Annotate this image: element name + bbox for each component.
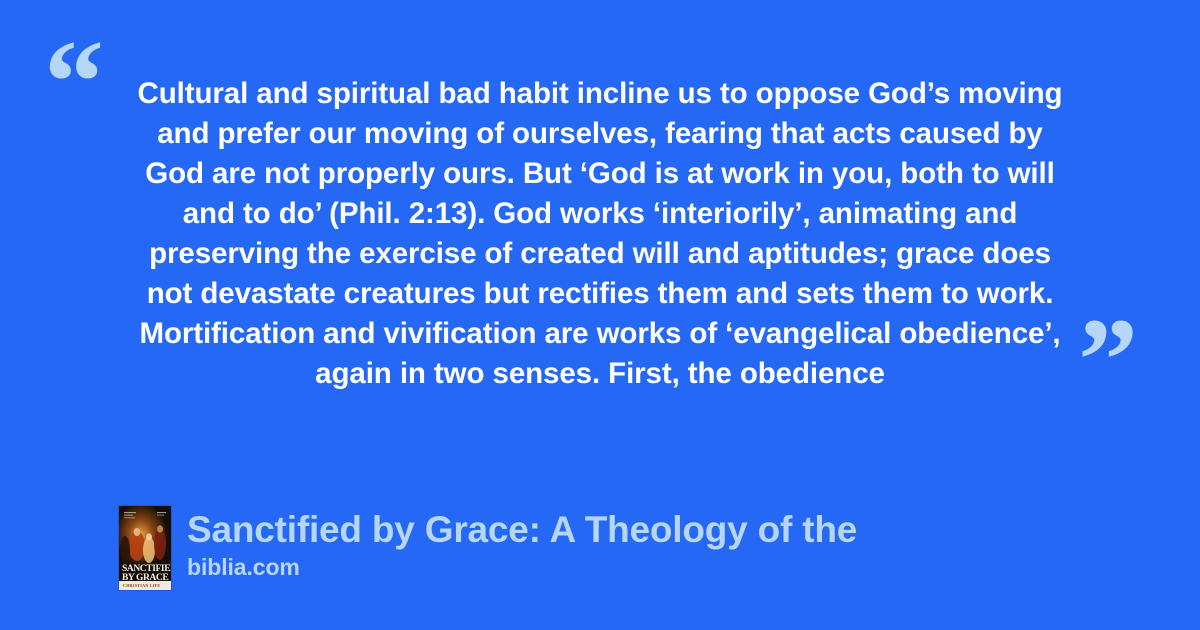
- source-text-group: Sanctified by Grace: A Theology of the b…: [187, 506, 857, 581]
- quote-block: Cultural and spiritual bad habit incline…: [100, 74, 1100, 394]
- site-name: biblia.com: [187, 554, 857, 581]
- quote-card: “ Cultural and spiritual bad habit incli…: [0, 0, 1200, 630]
- quote-text: Cultural and spiritual bad habit incline…: [100, 74, 1100, 394]
- source-attribution: SANCTIFIED BY GRACE CHRISTIAN LIFE Sanct…: [119, 506, 857, 590]
- closing-quote-icon: ”: [1078, 300, 1137, 420]
- opening-quote-icon: “: [44, 22, 103, 142]
- svg-text:CHRISTIAN LIFE: CHRISTIAN LIFE: [123, 583, 160, 588]
- book-title: Sanctified by Grace: A Theology of the: [187, 508, 857, 551]
- book-cover-thumbnail: SANCTIFIED BY GRACE CHRISTIAN LIFE: [119, 506, 171, 590]
